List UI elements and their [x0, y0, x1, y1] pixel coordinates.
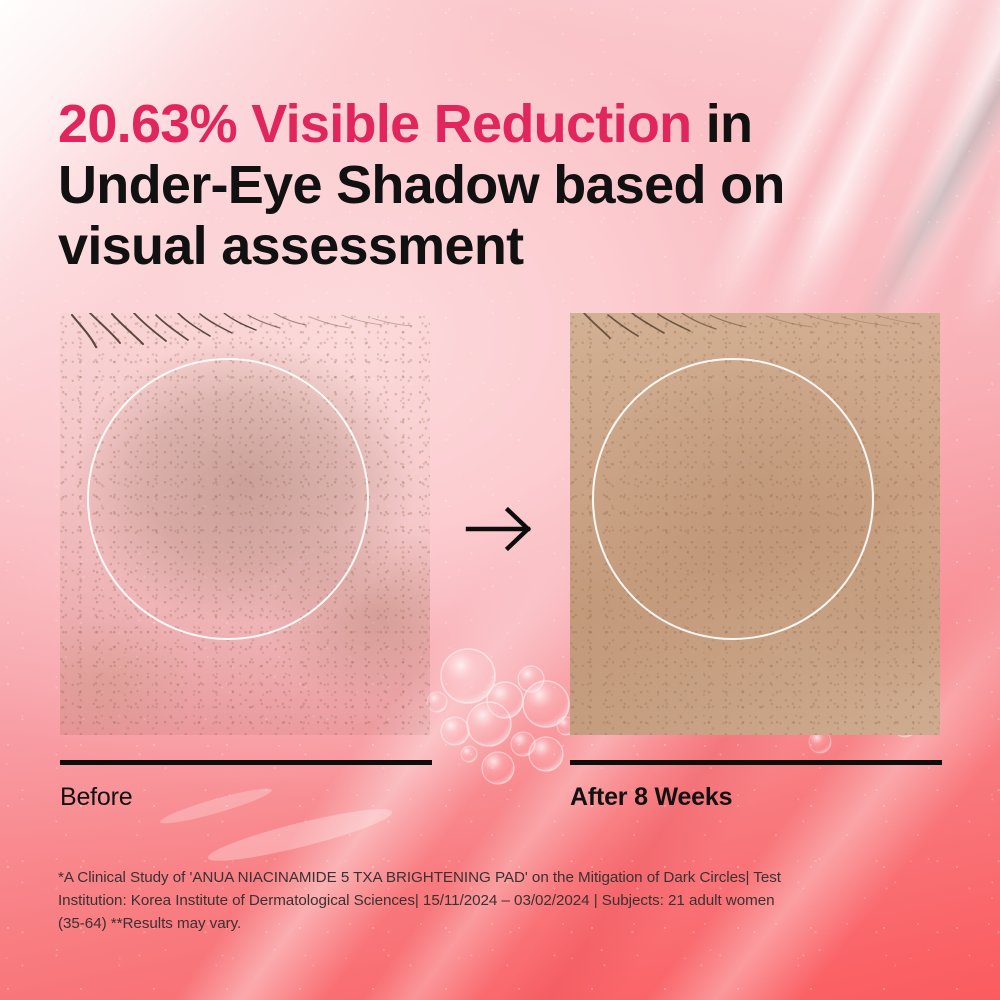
headline-line-1: 20.63% Visible Reduction in [58, 94, 948, 155]
after-label-block: After 8 Weeks [570, 760, 942, 812]
infographic-canvas: 20.63% Visible Reduction in Under-Eye Sh… [0, 0, 1000, 1000]
after-divider-rule [570, 760, 942, 765]
headline-line-2: Under-Eye Shadow based on [58, 155, 948, 216]
circle-highlight-icon [87, 358, 369, 640]
before-divider-rule [60, 760, 432, 765]
headline-line-1-rest: in [691, 94, 752, 154]
footnote-line-1: *A Clinical Study of 'ANUA NIACINAMIDE 5… [58, 866, 912, 889]
arrow-right-icon [465, 505, 537, 553]
before-label-block: Before [60, 760, 432, 812]
footnote-line-2: Institution: Korea Institute of Dermatol… [58, 889, 912, 912]
after-photo [570, 313, 940, 735]
footnote: *A Clinical Study of 'ANUA NIACINAMIDE 5… [58, 866, 912, 935]
stat-value: 20.63% Visible Reduction [58, 94, 691, 154]
after-label: After 8 Weeks [570, 784, 942, 812]
before-label: Before [60, 784, 432, 812]
circle-highlight-icon [592, 358, 874, 640]
headline-line-3: visual assessment [58, 216, 948, 277]
footnote-line-3: (35-64) **Results may vary. [58, 912, 912, 935]
before-photo [60, 313, 430, 735]
headline: 20.63% Visible Reduction in Under-Eye Sh… [58, 94, 948, 277]
